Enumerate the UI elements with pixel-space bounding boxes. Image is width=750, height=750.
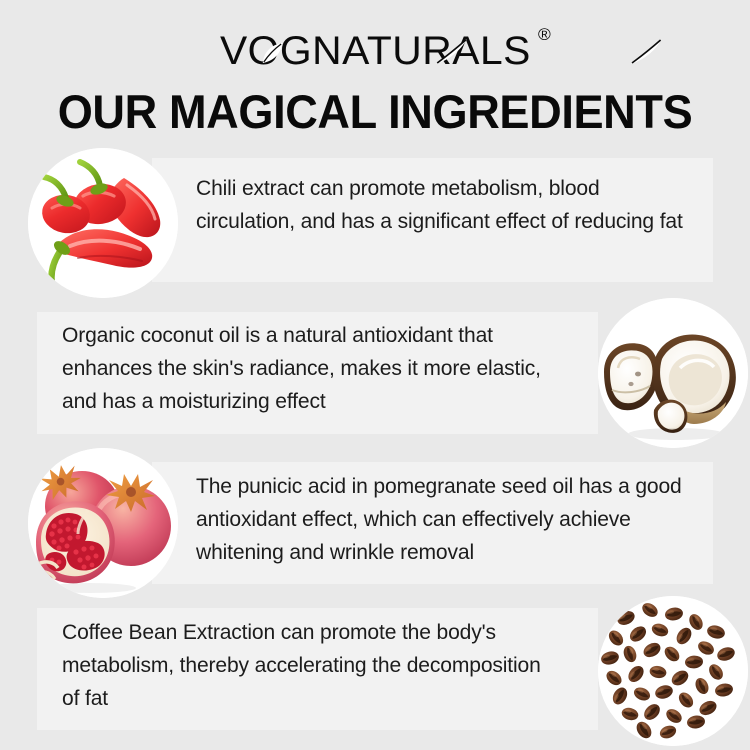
- brand-name-text: VOGNATURALS: [220, 29, 531, 73]
- ingredient-description-coconut: Organic coconut oil is a natural antioxi…: [62, 319, 552, 418]
- page-title: OUR MAGICAL INGREDIENTS: [15, 86, 735, 138]
- coffee-beans-image: [598, 596, 748, 746]
- ingredient-description-chili: Chili extract can promote metabolism, bl…: [196, 172, 686, 238]
- ingredient-block-pomegranate: The punicic acid in pomegranate seed oil…: [0, 448, 750, 598]
- brand-logo: VOGNATURALS ®: [0, 28, 750, 74]
- pomegranate-image: [28, 448, 178, 598]
- brand-wordmark: VOGNATURALS ®: [220, 28, 531, 74]
- chili-peppers-image: [28, 148, 178, 298]
- coconut-illustration: [598, 298, 748, 448]
- pomegranate-illustration: [28, 448, 178, 598]
- ingredient-block-chili: Chili extract can promote metabolism, bl…: [0, 148, 750, 288]
- coconut-image: [598, 298, 748, 448]
- ingredients-infographic: VOGNATURALS ® OUR MAGICAL INGREDIENTS Ch…: [0, 0, 750, 750]
- registered-trademark-icon: ®: [538, 26, 551, 43]
- ingredient-description-pomegranate: The punicic acid in pomegranate seed oil…: [196, 470, 686, 569]
- coffee-beans-illustration: [598, 596, 748, 746]
- ingredient-description-coffee: Coffee Bean Extraction can promote the b…: [62, 616, 552, 715]
- ingredient-block-coffee: Coffee Bean Extraction can promote the b…: [0, 596, 750, 746]
- chili-peppers-illustration: [28, 148, 178, 298]
- ingredient-block-coconut: Organic coconut oil is a natural antioxi…: [0, 298, 750, 448]
- leaf-icon-a2: [629, 37, 664, 67]
